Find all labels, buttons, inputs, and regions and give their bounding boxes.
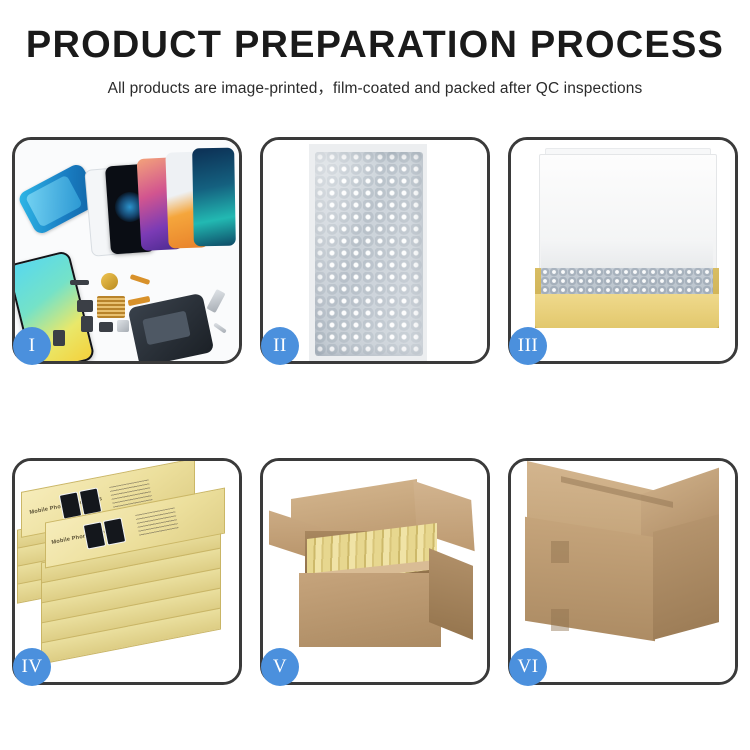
step-badge-6: VI xyxy=(509,648,547,686)
spare-part-tool xyxy=(206,289,225,313)
bubble-wrap-sheen xyxy=(315,152,423,356)
process-step-card-1: I xyxy=(12,137,242,364)
spare-part-gold-coil xyxy=(101,273,118,290)
step-4-image: Mobile Phone Spare Parts Mobile Phone Sp… xyxy=(15,461,239,682)
sealed-carton-front xyxy=(525,517,655,642)
page-subtitle: All products are image-printed，film-coat… xyxy=(0,76,750,98)
sealed-carton-tab-bottom xyxy=(551,609,569,631)
product-preparation-page: PRODUCT PREPARATION PROCESS All products… xyxy=(0,0,750,750)
page-title: PRODUCT PREPARATION PROCESS xyxy=(0,26,750,66)
step-badge-5: V xyxy=(261,648,299,686)
step-3-image xyxy=(511,140,735,361)
process-step-card-4: Mobile Phone Spare Parts Mobile Phone Sp… xyxy=(12,458,242,685)
process-step-grid: I II III xyxy=(12,137,738,685)
spare-part-bar xyxy=(70,280,89,285)
phone-screen-teal xyxy=(192,148,236,247)
spare-part-speaker xyxy=(99,322,113,332)
spare-part-button xyxy=(53,330,65,346)
spare-part-ic-grid xyxy=(97,296,125,318)
process-step-card-5: V xyxy=(260,458,490,685)
page-header: PRODUCT PREPARATION PROCESS All products… xyxy=(0,0,750,98)
spare-part-flex-cable-1 xyxy=(130,274,151,285)
step-badge-1: I xyxy=(13,327,51,365)
step-5-image xyxy=(263,461,487,682)
process-step-card-3: III xyxy=(508,137,738,364)
carton-front-panel xyxy=(299,573,441,647)
spare-part-connector xyxy=(77,300,93,312)
spare-part-camera xyxy=(81,316,93,332)
box-kraft-front xyxy=(535,294,719,328)
process-step-card-6: VI xyxy=(508,458,738,685)
box-bubble-wrapped-items xyxy=(541,268,713,296)
step-badge-2: II xyxy=(261,327,299,365)
step-badge-3: III xyxy=(509,327,547,365)
process-step-card-2: II xyxy=(260,137,490,364)
sealed-carton-tab-top xyxy=(551,541,569,563)
sealed-carton-side xyxy=(653,514,719,640)
spare-part-bracket xyxy=(117,320,129,332)
step-badge-4: IV xyxy=(13,648,51,686)
step-1-image xyxy=(15,140,239,361)
spare-part-screwdriver xyxy=(213,322,227,333)
step-6-image xyxy=(511,461,735,682)
step-2-image xyxy=(263,140,487,361)
